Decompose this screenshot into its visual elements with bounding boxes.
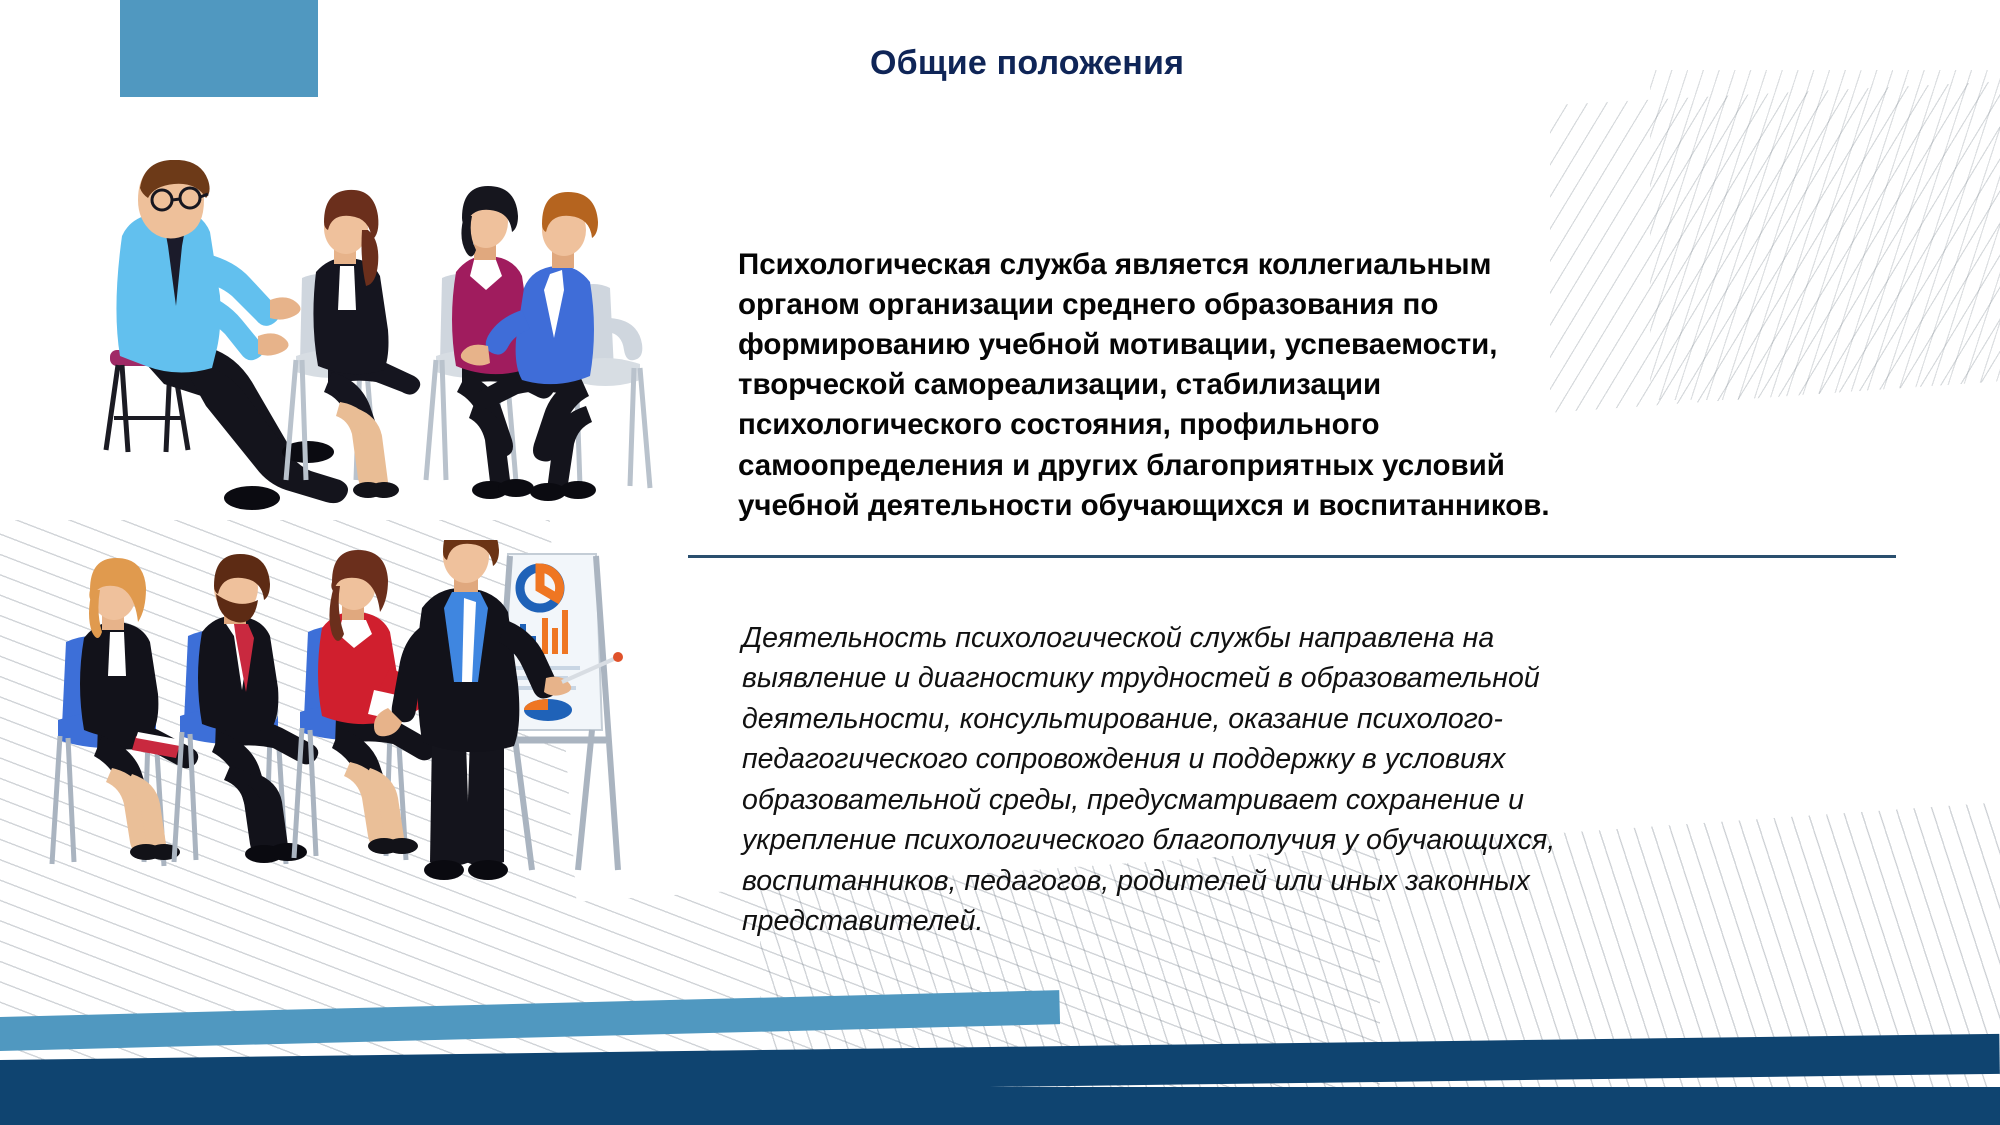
diagonal-pinstripes-top-right-secondary-icon (1650, 70, 2000, 400)
bottom-blue-band (0, 990, 1060, 1052)
section-divider (688, 555, 1896, 558)
page-title: Общие положения (870, 44, 1184, 83)
bottom-navy-bar (0, 1087, 2000, 1125)
business-presentation-illustration (40, 540, 690, 900)
activity-paragraph-italic: Деятельность психологической службы напр… (742, 618, 1632, 942)
intro-paragraph-bold: Психологическая служба является коллегиа… (738, 245, 1578, 526)
slide-root: Общие положения Психологическая служба я… (0, 0, 2000, 1125)
blue-accent-block (120, 0, 318, 97)
group-therapy-session-illustration (70, 160, 690, 560)
